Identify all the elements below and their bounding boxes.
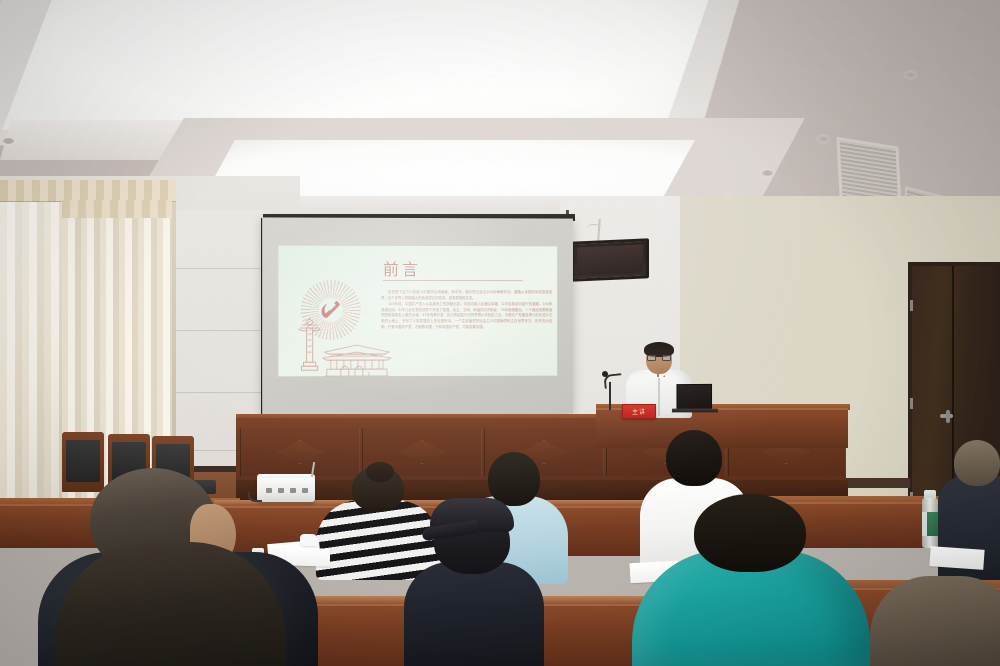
- lens-right: [662, 355, 671, 361]
- curtain-pleat-header-2: [62, 200, 172, 218]
- conference-room-photo: 前言 历史是千百万人的奋斗中展开壮阔画卷。到今年，我们党已走过104年峥嵘岁月。…: [0, 0, 1000, 666]
- laptop-screen: [676, 384, 712, 410]
- paper-document: [929, 546, 984, 570]
- microphone-icon: [602, 371, 608, 377]
- slide-paragraph: 104年前，中国共产党人从民族危亡的阴暗出发，寻找中国人民通往幸福、中华民族走向…: [381, 302, 552, 330]
- dark-shirt: [404, 562, 544, 666]
- audience-member-foreground-head: [56, 542, 286, 666]
- curtain-pleat-header: [0, 180, 176, 202]
- audience-member-right-edge: [870, 576, 1000, 666]
- downlight-icon: [905, 72, 916, 78]
- eyeglasses-icon: [647, 355, 671, 361]
- dark-suit-jacket: [938, 476, 1000, 586]
- head-hair: [666, 430, 722, 486]
- name-placard: 主讲: [622, 404, 656, 419]
- wall-mounted-display: [571, 238, 649, 281]
- lens-left: [647, 355, 656, 361]
- audience-member-teal: [632, 494, 870, 666]
- laptop-keyboard-base[interactable]: [672, 409, 718, 413]
- presenter-shirt-placket: [658, 378, 660, 416]
- audience-member-cap: [404, 490, 544, 666]
- slide-title-underline: [383, 280, 523, 281]
- slide-paragraph: 历史是千百万人的奋斗中展开壮阔画卷。到今年，我们党已走过104年峥嵘岁月。道路从…: [381, 290, 552, 301]
- door-hinge-icon: [910, 398, 913, 409]
- downlight-icon: [818, 136, 829, 142]
- bottle-label-stripe: [922, 512, 927, 536]
- door-hinge-icon: [910, 300, 913, 311]
- downlight-icon: [3, 138, 14, 144]
- head-hair: [694, 494, 806, 572]
- tiananmen-gate-icon: [317, 342, 397, 376]
- slide-body-text: 历史是千百万人的奋斗中展开壮阔画卷。到今年，我们党已走过104年峥嵘岁月。道路从…: [381, 290, 552, 331]
- downlight-icon: [762, 170, 773, 176]
- hair-bun: [366, 462, 394, 482]
- presentation-slide: 前言 历史是千百万人的奋斗中展开壮阔画卷。到今年，我们党已走过104年峥嵘岁月。…: [278, 246, 557, 377]
- door-latch-icon[interactable]: [946, 410, 950, 423]
- projection-screen: 前言 历史是千百万人的奋斗中展开壮阔画卷。到今年，我们党已走过104年峥嵘岁月。…: [262, 217, 573, 414]
- head-hair: [870, 576, 1000, 666]
- ceiling-light-panel-1: [2, 0, 722, 130]
- slide-title: 前言: [383, 256, 421, 280]
- head-hair: [954, 440, 1000, 486]
- display-cable-loop: [586, 224, 602, 234]
- head-hair: [56, 542, 286, 666]
- display-screen: [577, 245, 643, 276]
